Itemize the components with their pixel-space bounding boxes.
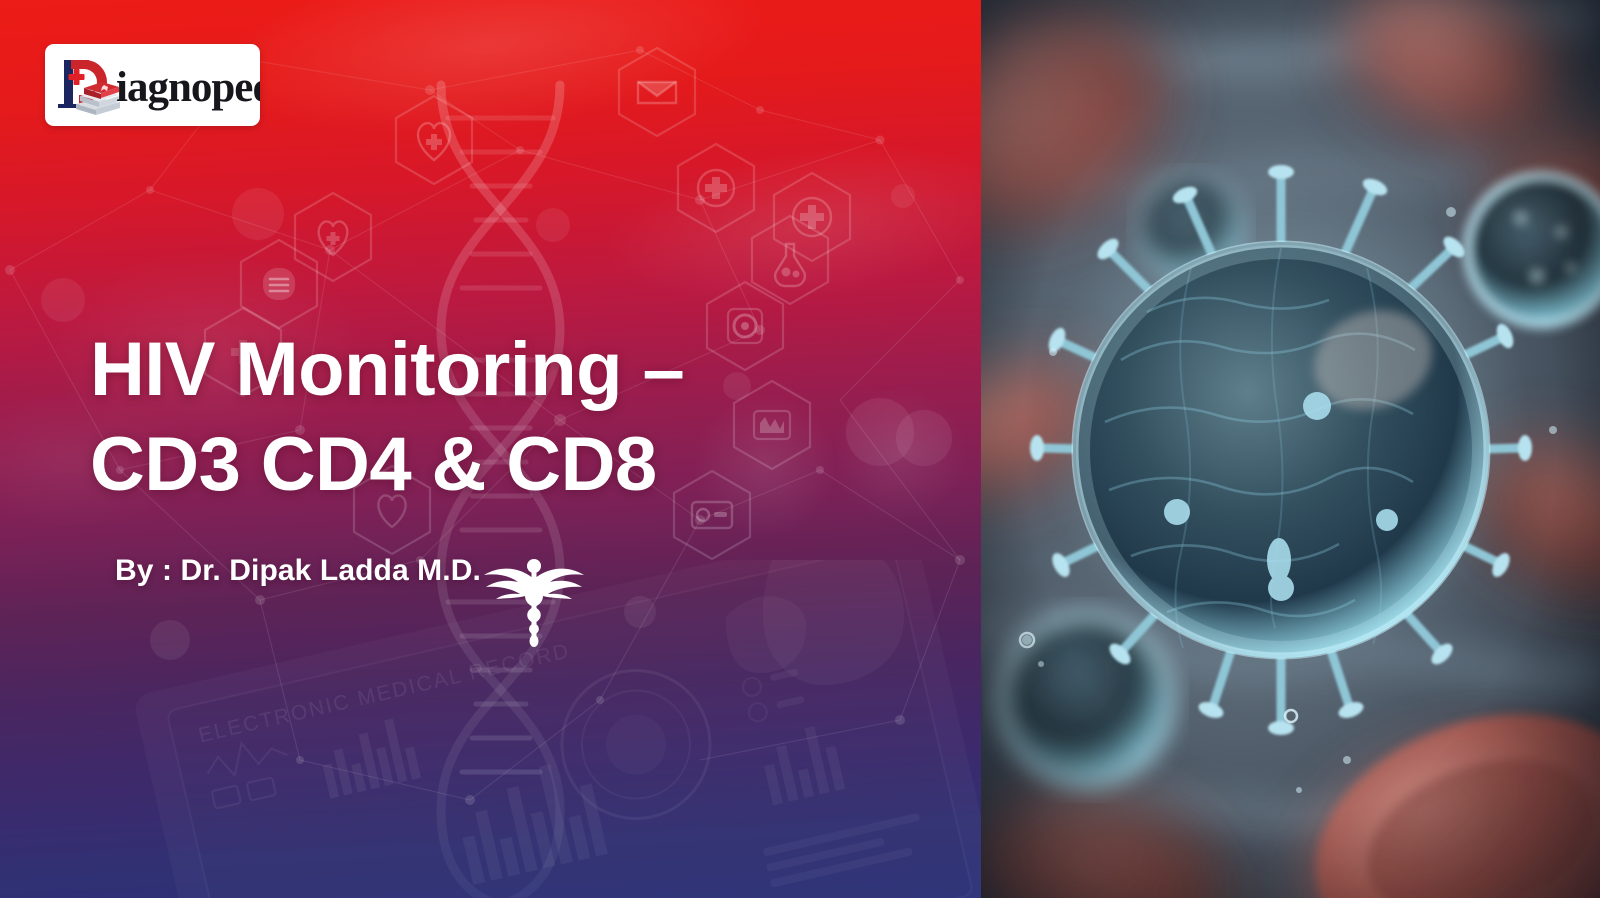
hiv-virus-image bbox=[981, 0, 1600, 898]
envelope-icon bbox=[619, 48, 695, 136]
list-icon bbox=[241, 240, 317, 328]
heart-cross-icon bbox=[396, 96, 472, 184]
page-title: HIV Monitoring – CD3 CD4 & CD8 bbox=[90, 322, 860, 512]
medical-plus-icon bbox=[678, 144, 754, 232]
author-byline: By : Dr. Dipak Ladda M.D. bbox=[115, 549, 515, 593]
logo-wordmark: iagnopedia bbox=[116, 66, 260, 109]
caduceus-icon bbox=[480, 549, 588, 649]
title-line-1: HIV Monitoring – bbox=[90, 322, 860, 417]
flask-icon bbox=[752, 216, 828, 304]
hiv-virus-illustration bbox=[981, 0, 1600, 898]
title-panel: ELECTRONIC MEDICAL RECORD bbox=[0, 0, 981, 898]
heart-cross-icon bbox=[295, 193, 371, 281]
diagnopedia-logo[interactable]: iagnopedia bbox=[45, 44, 260, 126]
author-row: By : Dr. Dipak Ladda M.D. bbox=[115, 549, 715, 593]
diagnopedia-logo-icon bbox=[54, 52, 122, 118]
title-line-2: CD3 CD4 & CD8 bbox=[90, 417, 860, 512]
presentation-title-slide: ELECTRONIC MEDICAL RECORD bbox=[0, 0, 1600, 898]
